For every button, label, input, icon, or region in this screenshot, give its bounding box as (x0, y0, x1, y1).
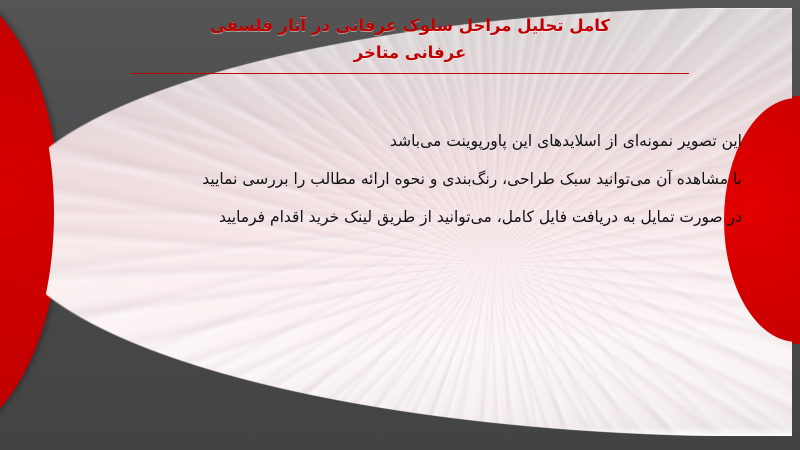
panel-bottom-highlight (0, 427, 792, 436)
slide-canvas: کامل تحلیل مراحل سلوک عرفانی در آثار فلس… (0, 0, 800, 450)
panel-ribbon-texture (0, 8, 792, 436)
panel-ribbon-texture-secondary (0, 8, 792, 436)
slide-content-panel (0, 8, 792, 436)
